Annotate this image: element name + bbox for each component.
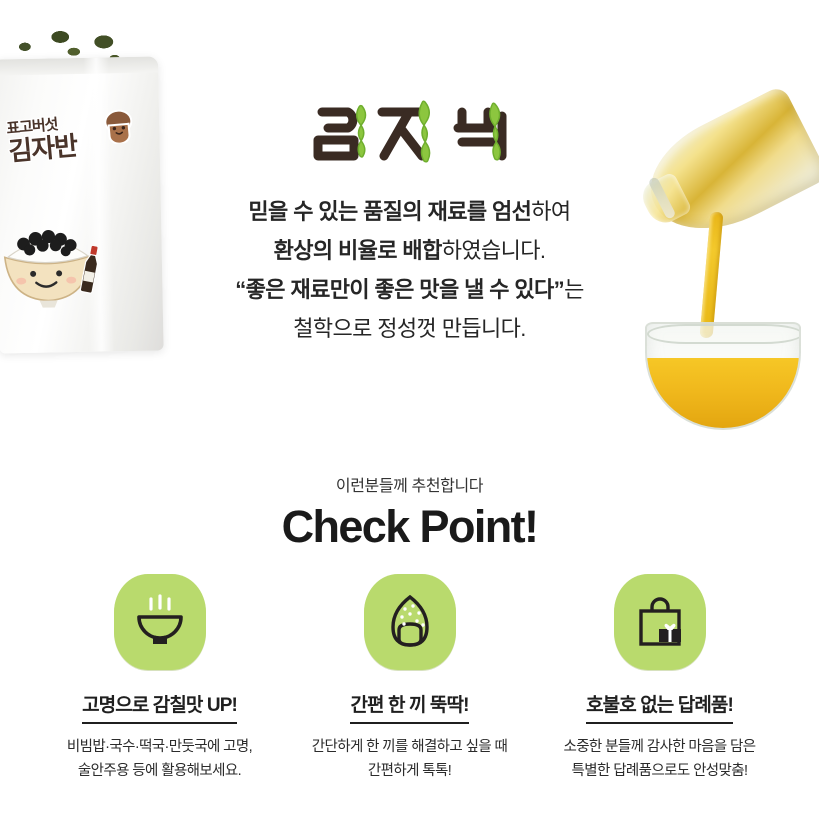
hero-line-3-bold: “좋은 재료만이 좋은 맛을 낼 수 있다”: [235, 277, 564, 302]
hero-line-4: 철학으로 정성껏 만듭니다.: [0, 309, 819, 348]
checkpoint-card-3-badge: [614, 574, 706, 670]
gimjaban-logo-icon: [310, 96, 510, 168]
hero-line-3: “좋은 재료만이 좋은 맛을 낼 수 있다”는: [0, 270, 819, 309]
checkpoint-card-3-desc-line-2: 특별한 답례품으로도 안성맞춤!: [535, 759, 785, 783]
checkpoint-cards: 고명으로 감칠맛 UP! 비빔밥·국수·떡국·만둣국에 고명, 술안주용 등에 …: [0, 574, 819, 783]
checkpoint-card-2: 간편 한 끼 뚝딱! 간단하게 한 끼를 해결하고 싶을 때 간편하게 톡톡!: [285, 574, 535, 783]
checkpoint-card-2-desc: 간단하게 한 끼를 해결하고 싶을 때 간편하게 톡톡!: [285, 735, 535, 783]
checkpoint-card-1-desc-line-1: 비빔밥·국수·떡국·만둣국에 고명,: [35, 735, 285, 759]
hero-copy: 믿을 수 있는 품질의 재료를 엄선하여 환상의 비율로 배합하였습니다. “좋…: [0, 192, 819, 348]
checkpoint-card-1-desc: 비빔밥·국수·떡국·만둣국에 고명, 술안주용 등에 활용해보세요.: [35, 735, 285, 783]
checkpoint-card-3-title: 호불호 없는 답례품!: [586, 690, 733, 724]
rice-ball-icon: [380, 592, 440, 652]
brand-logo: [0, 96, 819, 172]
hero-line-1-bold: 믿을 수 있는 품질의 재료를 엄선: [248, 199, 531, 224]
checkpoint-card-2-badge: [364, 574, 456, 670]
hero-section: 표고버섯 김자반: [0, 0, 819, 450]
checkpoint-card-1-title: 고명으로 감칠맛 UP!: [82, 690, 237, 724]
checkpoint-section: 이런분들께 추천합니다 Check Point! 고명으로 감칠맛 UP! 비빔…: [0, 450, 819, 783]
checkpoint-card-3-desc: 소중한 분들께 감사한 마음을 담은 특별한 답례품으로도 안성맞춤!: [535, 735, 785, 783]
checkpoint-card-3: 호불호 없는 답례품! 소중한 분들께 감사한 마음을 담은 특별한 답례품으로…: [535, 574, 785, 783]
hero-line-2-bold: 환상의 비율로 배합: [274, 238, 442, 263]
hero-line-2: 환상의 비율로 배합하였습니다.: [0, 231, 819, 270]
hero-line-4-normal: 철학으로 정성껏 만듭니다.: [293, 316, 526, 341]
checkpoint-card-3-desc-line-1: 소중한 분들께 감사한 마음을 담은: [535, 735, 785, 759]
checkpoint-card-2-desc-line-1: 간단하게 한 끼를 해결하고 싶을 때: [285, 735, 535, 759]
checkpoint-card-2-desc-line-2: 간편하게 톡톡!: [285, 759, 535, 783]
gift-shopping-bag-icon: [630, 592, 690, 652]
hero-line-3-normal: 는: [564, 277, 584, 302]
checkpoint-card-1-badge: [114, 574, 206, 670]
hero-line-2-normal: 하였습니다.: [442, 238, 546, 263]
hero-line-1-normal: 하여: [531, 199, 570, 224]
checkpoint-card-2-title: 간편 한 끼 뚝딱!: [350, 690, 468, 724]
oil-bowl-fill: [647, 358, 799, 430]
checkpoint-card-1: 고명으로 감칠맛 UP! 비빔밥·국수·떡국·만둣국에 고명, 술안주용 등에 …: [35, 574, 285, 783]
checkpoint-card-1-desc-line-2: 술안주용 등에 활용해보세요.: [35, 759, 285, 783]
checkpoint-eyebrow: 이런분들께 추천합니다: [0, 472, 819, 496]
checkpoint-title: Check Point!: [0, 502, 819, 552]
steaming-bowl-icon: [130, 592, 190, 652]
hero-line-1: 믿을 수 있는 품질의 재료를 엄선하여: [0, 192, 819, 231]
